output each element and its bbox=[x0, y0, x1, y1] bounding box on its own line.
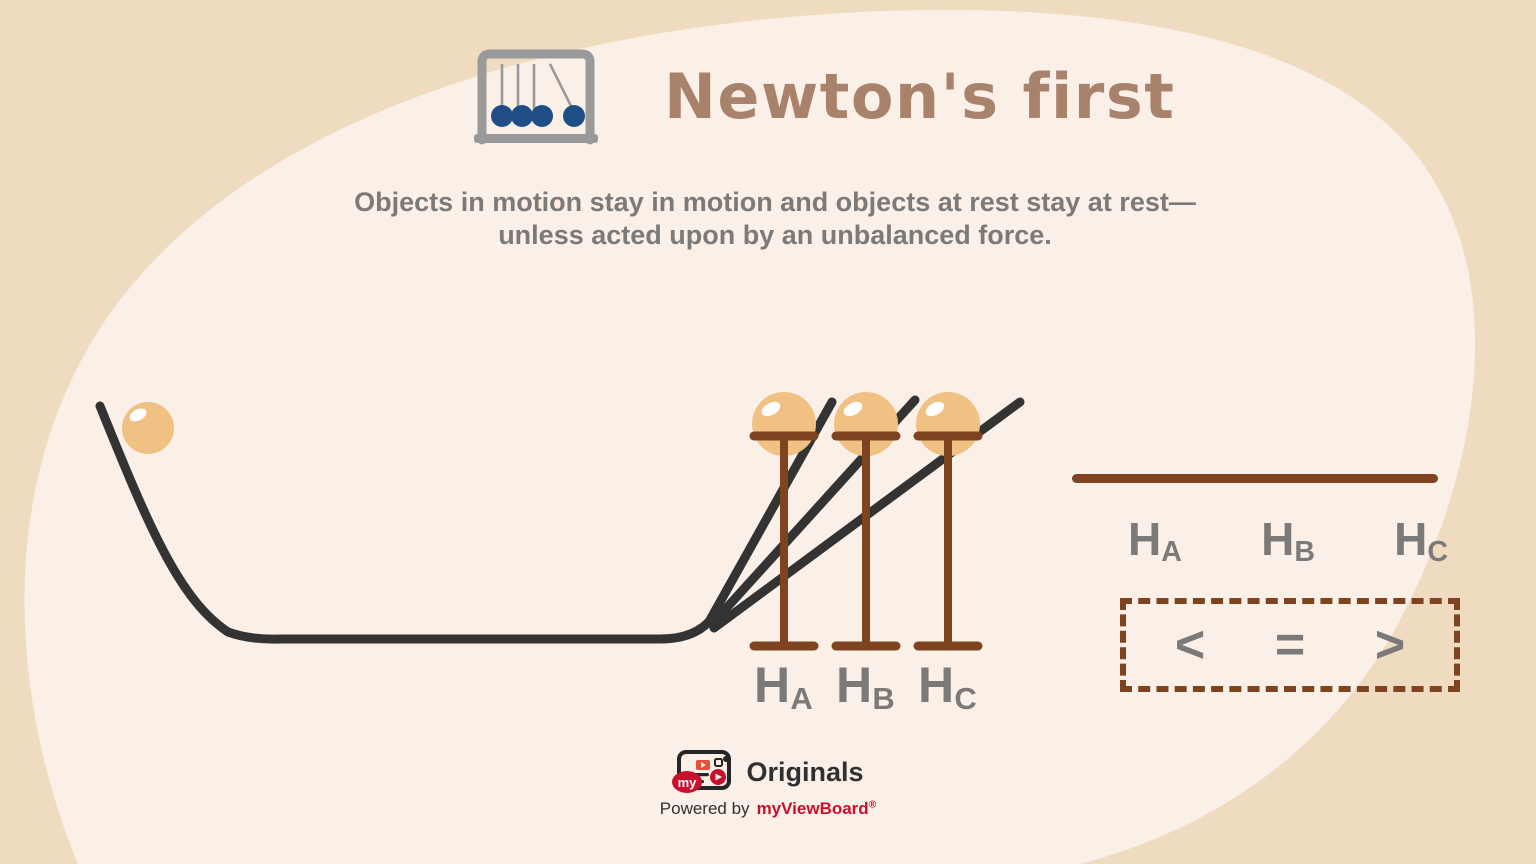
operator-drop-zone[interactable]: < = > bbox=[1120, 598, 1460, 692]
answer-divider-rule bbox=[1072, 474, 1438, 483]
answer-term-b-letter: H bbox=[1261, 513, 1294, 565]
answer-term-c-subscript: C bbox=[1427, 536, 1448, 568]
answer-term-c-letter: H bbox=[1394, 513, 1427, 565]
slide-canvas: Newton's first Objects in motion stay in… bbox=[0, 0, 1536, 864]
svg-text:my: my bbox=[678, 775, 698, 790]
ramp-c-height-label: HC bbox=[918, 660, 977, 710]
answer-term-b-subscript: B bbox=[1294, 536, 1315, 568]
less-than-operator[interactable]: < bbox=[1175, 619, 1205, 671]
myviewboard-originals-logo-icon: my bbox=[672, 748, 734, 796]
page-title: Newton's first bbox=[664, 66, 1175, 128]
answer-term-c: HC bbox=[1394, 516, 1448, 562]
ramp-b-height-label: HB bbox=[836, 660, 895, 710]
ramp-b-height-subscript: B bbox=[872, 681, 894, 716]
slide-header: Newton's first bbox=[470, 48, 1175, 146]
footer-brand-mark: ® bbox=[869, 799, 877, 810]
footer-brand-name: myViewBoard bbox=[757, 799, 869, 818]
equals-operator[interactable]: = bbox=[1275, 619, 1305, 671]
answer-term-a-letter: H bbox=[1128, 513, 1161, 565]
slide-footer: my Originals Powered by myViewBoard® bbox=[0, 748, 1536, 817]
answer-terms-row: HA HB HC bbox=[1128, 516, 1448, 562]
ramp-c-height-subscript: C bbox=[954, 681, 976, 716]
answer-term-a-subscript: A bbox=[1161, 536, 1182, 568]
greater-than-operator[interactable]: > bbox=[1375, 619, 1405, 671]
ramp-a-height-letter: H bbox=[754, 657, 790, 713]
subtitle-text: Objects in motion stay in motion and obj… bbox=[352, 186, 1198, 252]
ramp-a-height-label: HA bbox=[754, 660, 813, 710]
answer-term-b: HB bbox=[1261, 516, 1315, 562]
newtons-cradle-icon bbox=[470, 48, 602, 146]
footer-powered-row: Powered by myViewBoard® bbox=[660, 800, 876, 817]
footer-powered-label: Powered by bbox=[660, 800, 750, 817]
ramp-c-height-letter: H bbox=[918, 657, 954, 713]
answer-term-a: HA bbox=[1128, 516, 1182, 562]
footer-originals-label: Originals bbox=[746, 759, 863, 786]
footer-logo-row: my Originals bbox=[672, 748, 863, 796]
ramp-b-height-letter: H bbox=[836, 657, 872, 713]
footer-brand-label: myViewBoard® bbox=[757, 800, 877, 817]
ramp-a-height-subscript: A bbox=[790, 681, 812, 716]
